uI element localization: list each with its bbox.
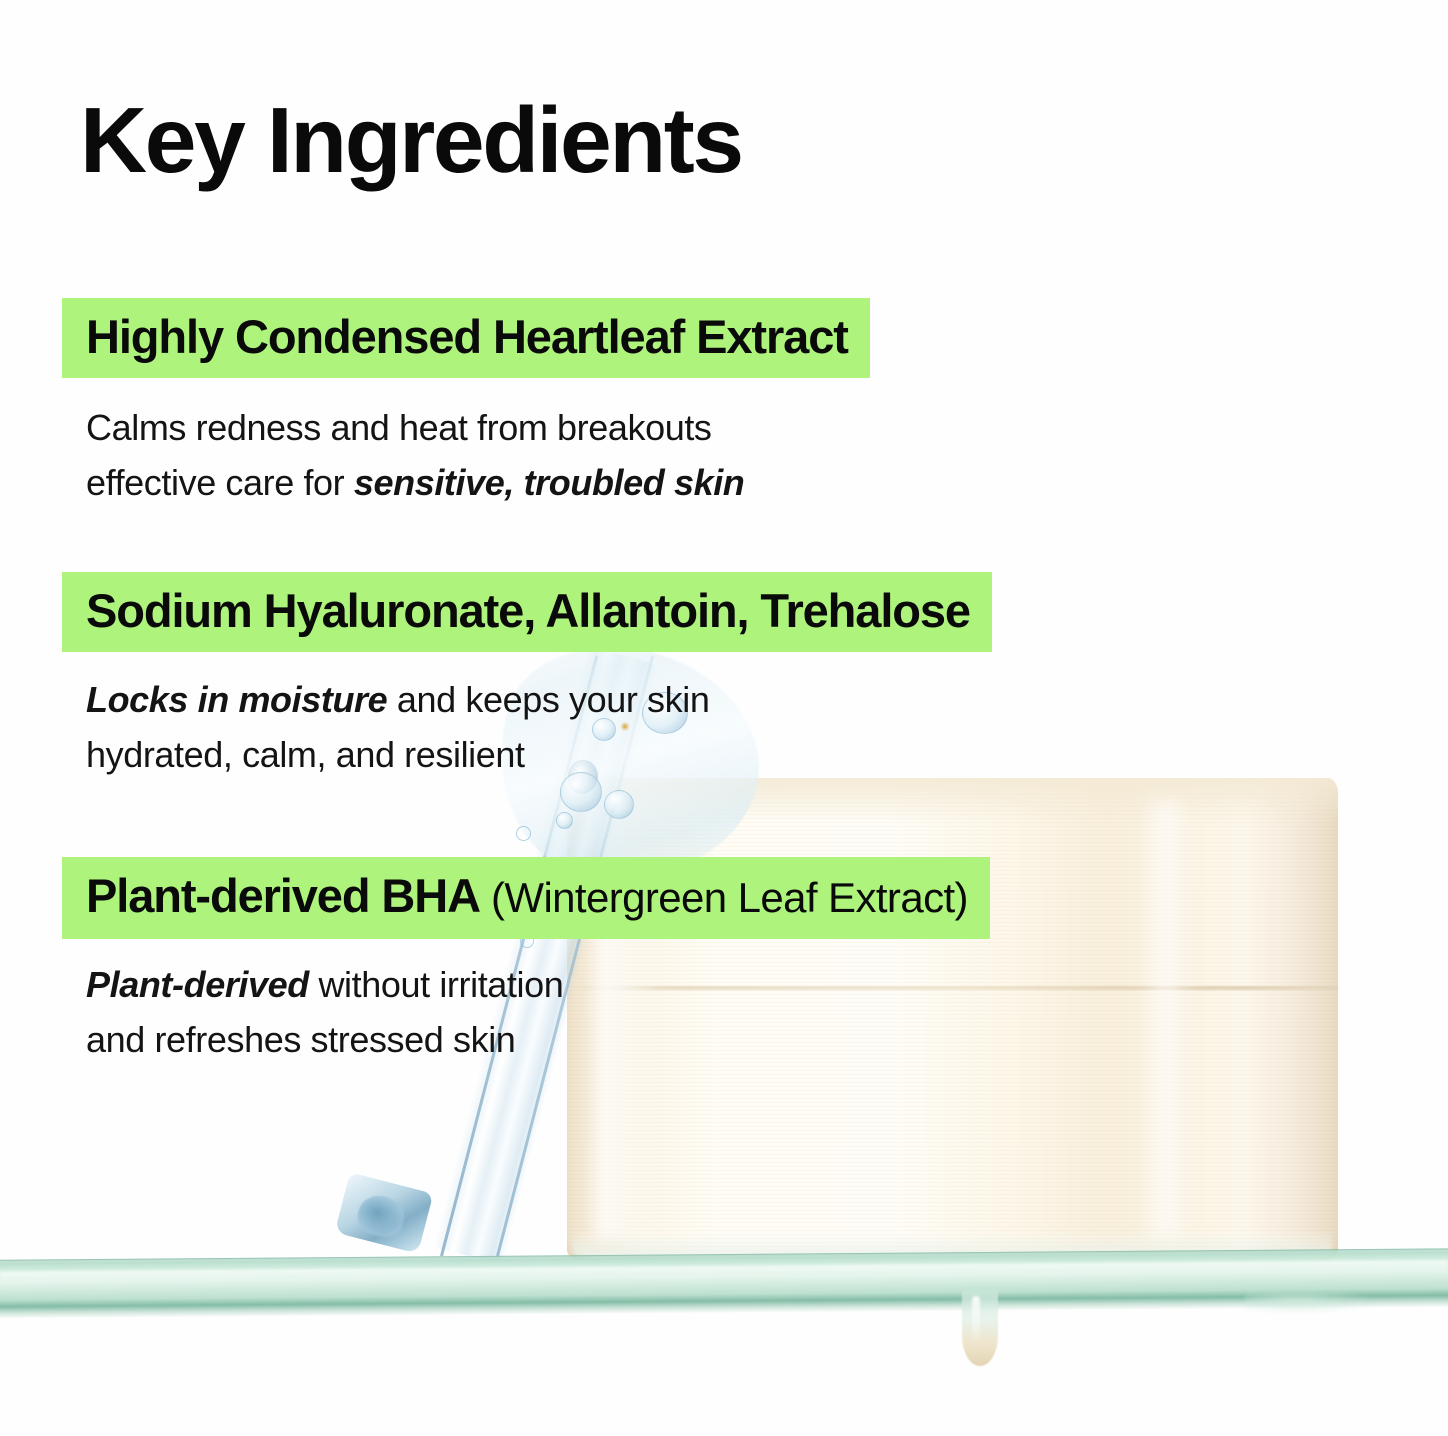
ingredient-description-3-line-1-tail: without irritation xyxy=(309,964,564,1005)
ingredient-description-3-line-2: and refreshes stressed skin xyxy=(86,1012,986,1067)
ingredient-heading-3-main: Plant-derived BHA xyxy=(86,869,480,922)
ingredient-block-2: Sodium Hyaluronate, Allantoin, Trehalose… xyxy=(0,572,992,652)
ingredient-description-3: Plant-derived without irritation and ref… xyxy=(86,957,986,1067)
ingredient-description-2-line-1-tail: and keeps your skin xyxy=(387,679,709,720)
page-title: Key Ingredients xyxy=(80,92,742,190)
content-text: Key Ingredients Highly Condensed Heartle… xyxy=(0,0,1448,1436)
infographic-page: Key Ingredients Highly Condensed Heartle… xyxy=(0,0,1448,1436)
ingredient-description-1-line-2: effective care for sensitive, troubled s… xyxy=(86,455,986,510)
ingredient-heading-3: Plant-derived BHA (Wintergreen Leaf Extr… xyxy=(62,857,990,939)
ingredient-description-1-emphasis: sensitive, troubled skin xyxy=(354,462,745,503)
ingredient-description-1-line-1: Calms redness and heat from breakouts xyxy=(86,400,986,455)
ingredient-heading-1: Highly Condensed Heartleaf Extract xyxy=(62,298,870,378)
ingredient-block-1: Highly Condensed Heartleaf Extract Calms… xyxy=(0,298,870,378)
ingredient-description-2: Locks in moisture and keeps your skin hy… xyxy=(86,672,986,782)
ingredient-block-3: Plant-derived BHA (Wintergreen Leaf Extr… xyxy=(0,857,990,939)
ingredient-description-1-line-2-plain: effective care for xyxy=(86,462,354,503)
ingredient-description-2-line-1: Locks in moisture and keeps your skin xyxy=(86,672,986,727)
ingredient-heading-1-main: Highly Condensed Heartleaf Extract xyxy=(86,310,848,363)
ingredient-heading-2: Sodium Hyaluronate, Allantoin, Trehalose xyxy=(62,572,992,652)
ingredient-heading-3-sub: (Wintergreen Leaf Extract) xyxy=(480,874,968,921)
ingredient-heading-3-sub-text: (Wintergreen Leaf Extract) xyxy=(491,874,968,921)
ingredient-description-2-line-2: hydrated, calm, and resilient xyxy=(86,727,986,782)
ingredient-description-3-emphasis: Plant-derived xyxy=(86,964,309,1005)
ingredient-heading-2-main: Sodium Hyaluronate, Allantoin, Trehalose xyxy=(86,584,970,637)
ingredient-description-2-emphasis: Locks in moisture xyxy=(86,679,387,720)
ingredient-description-3-line-1: Plant-derived without irritation xyxy=(86,957,986,1012)
ingredient-description-1: Calms redness and heat from breakouts ef… xyxy=(86,400,986,510)
